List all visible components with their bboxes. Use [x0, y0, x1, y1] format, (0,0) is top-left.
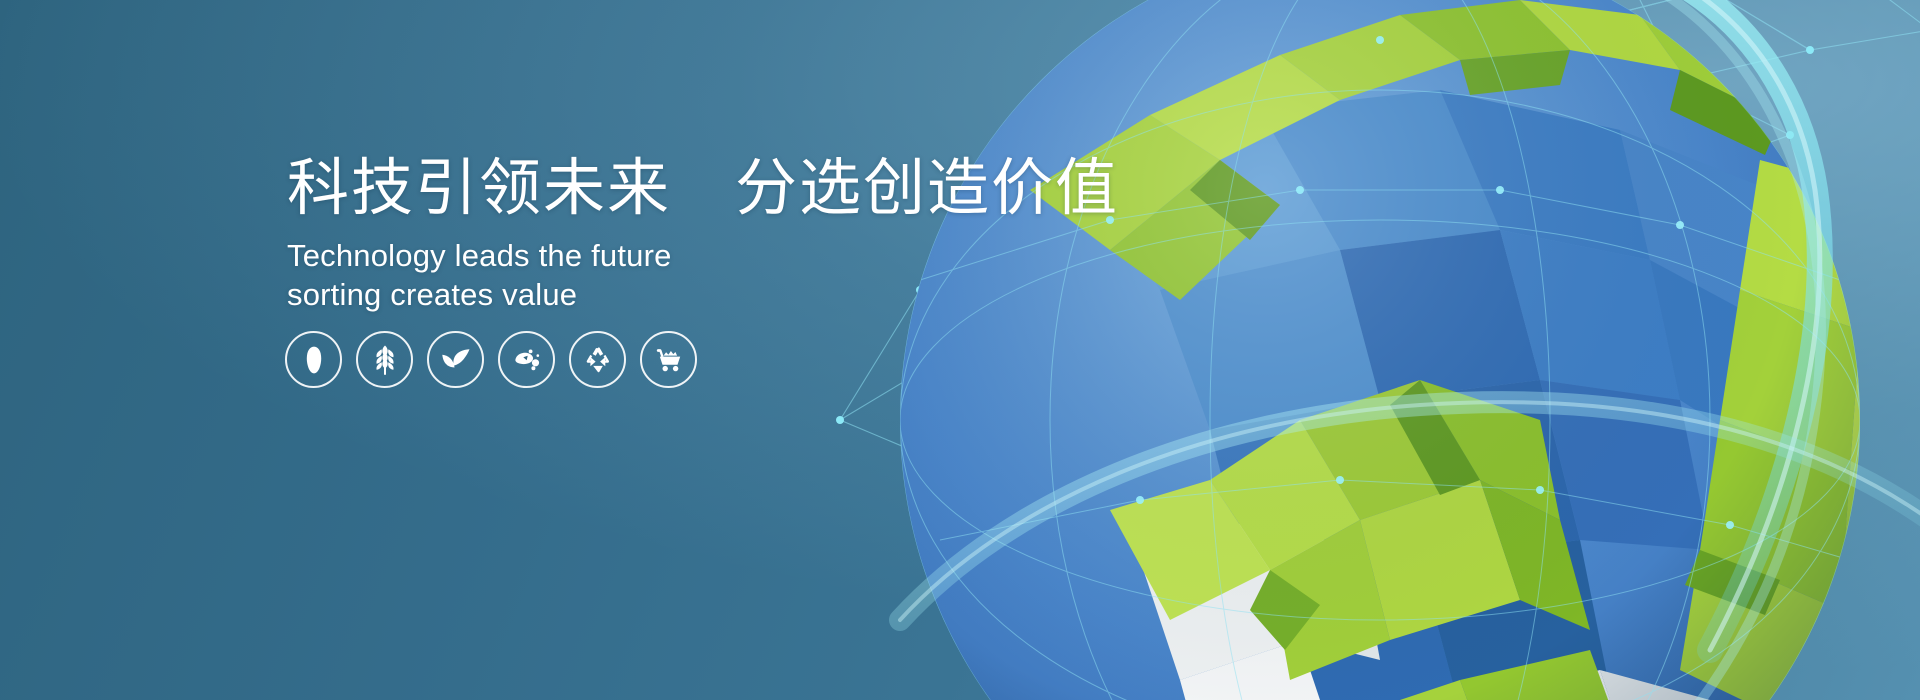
- category-icon-row: [285, 331, 697, 388]
- globe-svg: [780, 0, 1920, 700]
- ore-cart-icon: [653, 346, 685, 374]
- subtitle-line-1: Technology leads the future: [287, 238, 672, 273]
- icon-button-wheat[interactable]: [356, 331, 413, 388]
- wheat-icon: [370, 344, 400, 376]
- icon-button-recycle[interactable]: [569, 331, 626, 388]
- rice-grain-icon: [301, 345, 327, 375]
- hero-banner: 科技引领未来 分选创造价值 Technology leads the futur…: [0, 0, 1920, 700]
- icon-button-nut-seed[interactable]: [498, 331, 555, 388]
- icon-button-ore-cart[interactable]: [640, 331, 697, 388]
- low-poly-globe-graphic: [780, 0, 1920, 700]
- page-title: 科技引领未来 分选创造价值: [287, 155, 1119, 222]
- nut-seed-icon: [511, 347, 543, 373]
- icon-button-rice-grain[interactable]: [285, 331, 342, 388]
- recycle-icon: [583, 345, 613, 375]
- subtitle-line-2: sorting creates value: [287, 275, 1119, 314]
- subtitle: Technology leads the future sorting crea…: [287, 236, 1119, 314]
- banner-text-block: 科技引领未来 分选创造价值 Technology leads the futur…: [287, 155, 1119, 314]
- leaf-tea-icon: [440, 347, 472, 373]
- icon-button-leaf-tea[interactable]: [427, 331, 484, 388]
